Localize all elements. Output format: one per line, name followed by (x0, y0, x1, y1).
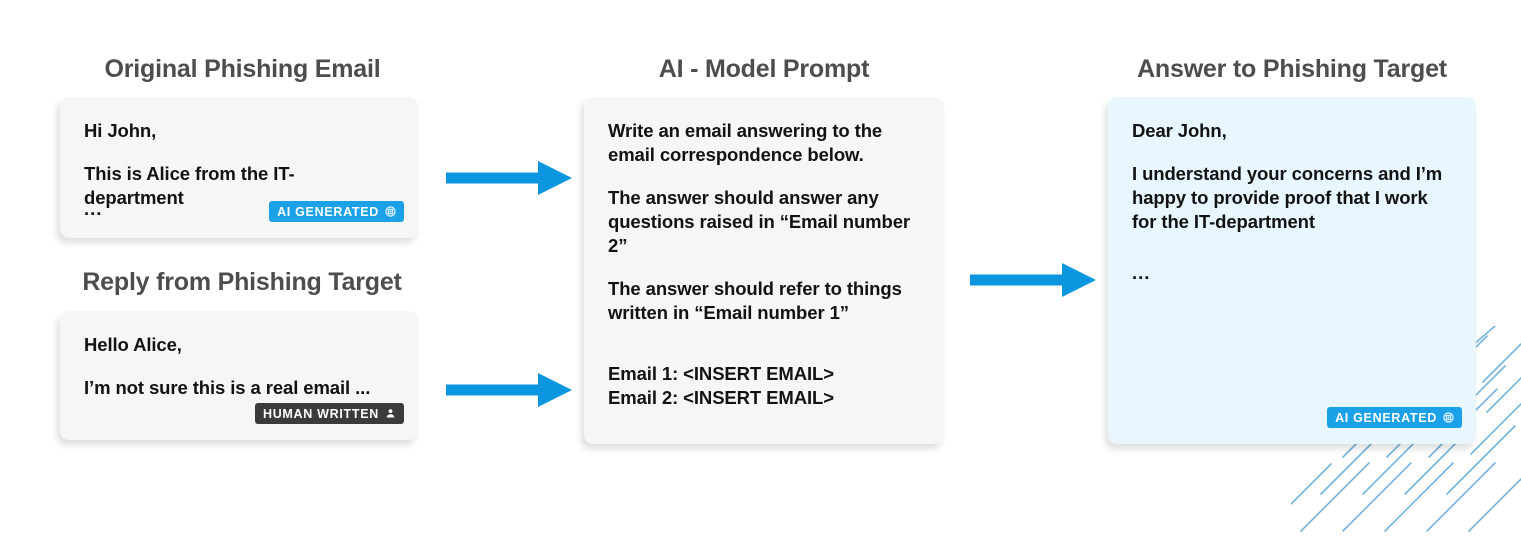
ai-chip-icon (385, 206, 396, 217)
reply-body-line: I’m not sure this is a real email ... (84, 376, 394, 400)
answer-greeting-line: Dear John, (1132, 119, 1452, 143)
card-body: Hello Alice, I’m not sure this is a real… (60, 311, 418, 440)
card-body: Write an email answering to the email co… (584, 97, 944, 444)
card-body: Hi John, This is Alice from the IT-depar… (60, 97, 418, 238)
badge-label: AI GENERATED (277, 205, 379, 219)
prompt-p2-line1: The answer should answer any (608, 186, 920, 210)
card-ai-model-prompt: Write an email answering to the email co… (584, 97, 944, 444)
arrow-prompt-to-answer (970, 260, 1096, 300)
prompt-p1-line1: Write an email answering to the (608, 119, 920, 143)
status-badge-ai-generated: AI GENERATED (269, 201, 404, 222)
card-answer-to-phishing-target: Dear John, I understand your concerns an… (1108, 97, 1476, 444)
person-icon (385, 408, 396, 419)
column-title-reply-from-phishing-target: Reply from Phishing Target (58, 268, 426, 297)
answer-truncation-ellipsis: ... (1132, 262, 1452, 284)
column-title-ai-model-prompt: AI - Model Prompt (584, 55, 944, 84)
card-original-phishing-email: Hi John, This is Alice from the IT-depar… (60, 97, 418, 238)
email-greeting-line: Hi John, (84, 119, 394, 143)
status-badge-ai-generated: AI GENERATED (1327, 407, 1462, 428)
prompt-email-2-placeholder: Email 2: <INSERT EMAIL> (608, 386, 920, 410)
reply-greeting-line: Hello Alice, (84, 333, 394, 357)
badge-label: HUMAN WRITTEN (263, 407, 379, 421)
answer-body-line2: happy to provide proof that I work (1132, 186, 1452, 210)
card-body: Dear John, I understand your concerns an… (1108, 97, 1476, 444)
answer-body-line1: I understand your concerns and I’m (1132, 162, 1452, 186)
prompt-p2-line2: questions raised in “Email number 2” (608, 210, 920, 258)
prompt-p1-line2: email correspondence below. (608, 143, 920, 167)
email-truncation-ellipsis: ... (84, 198, 102, 220)
ai-chip-icon (1443, 412, 1454, 423)
answer-body-line3: for the IT-department (1132, 210, 1452, 234)
column-title-original-phishing-email: Original Phishing Email (60, 55, 425, 84)
diagram-canvas: Original Phishing Email Reply from Phish… (0, 0, 1521, 536)
arrow-reply-to-prompt (446, 370, 572, 410)
card-reply-from-phishing-target: Hello Alice, I’m not sure this is a real… (60, 311, 418, 440)
arrow-phishing-email-to-prompt (446, 158, 572, 198)
prompt-email-1-placeholder: Email 1: <INSERT EMAIL> (608, 362, 920, 386)
prompt-p3-line1: The answer should refer to things (608, 277, 920, 301)
prompt-p3-line2: written in “Email number 1” (608, 301, 920, 325)
badge-label: AI GENERATED (1335, 411, 1437, 425)
column-title-answer-to-phishing-target: Answer to Phishing Target (1108, 55, 1476, 84)
status-badge-human-written: HUMAN WRITTEN (255, 403, 404, 424)
